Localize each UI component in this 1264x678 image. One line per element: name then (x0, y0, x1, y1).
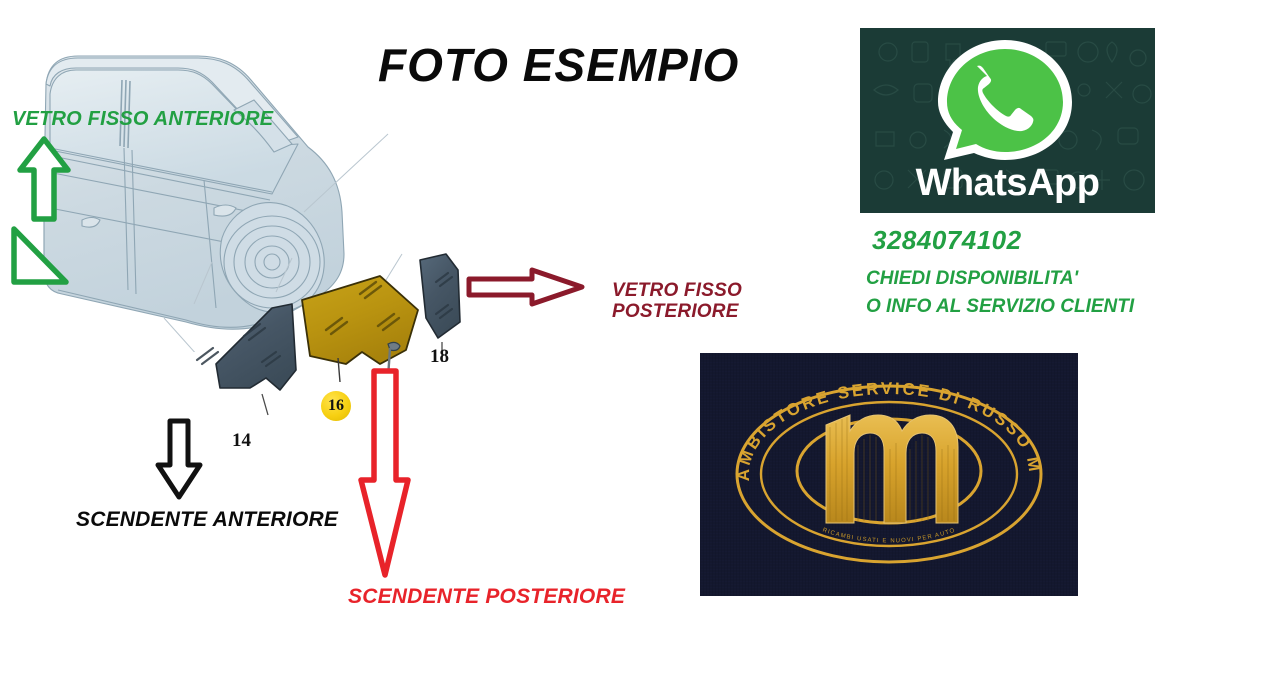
phone-number[interactable]: 3284074102 (872, 225, 1022, 256)
label-vetro-fisso-posteriore: VETRO FISSO POSTERIORE (612, 280, 742, 323)
contact-line-2: O INFO AL SERVIZIO CLIENTI (866, 296, 1134, 318)
page-title: FOTO ESEMPIO (378, 38, 798, 92)
shop-logo: MRICAMBISTORE SERVICE DI RUSSO MARCO RI (700, 353, 1078, 596)
triangle-green-icon (8, 225, 70, 292)
whatsapp-phone-icon (930, 36, 1080, 169)
shop-logo-artwork: MRICAMBISTORE SERVICE DI RUSSO MARCO RI (700, 353, 1078, 596)
contact-line-1: CHIEDI DISPONIBILITA' (866, 268, 1078, 290)
arrow-down-black-icon (155, 418, 203, 505)
label-line-1: VETRO FISSO (612, 280, 742, 301)
logo-monogram (826, 415, 958, 523)
part-number-18: 18 (430, 346, 449, 368)
label-vetro-fisso-anteriore: VETRO FISSO ANTERIORE (12, 108, 273, 130)
whatsapp-banner[interactable]: WhatsApp (860, 28, 1155, 213)
poster-canvas: 14 17 18 16 FOTO ESEMPIO VETRO FISSO ANT… (0, 0, 1264, 678)
whatsapp-wordmark: WhatsApp (860, 162, 1155, 205)
arrow-right-darkred-icon (466, 266, 586, 313)
part-number-badge-16: 16 (321, 391, 351, 421)
arrow-down-red-icon (356, 368, 412, 585)
part-number-14: 14 (232, 430, 251, 452)
label-scendente-anteriore: SCENDENTE ANTERIORE (76, 508, 338, 532)
arrow-up-green-icon (16, 136, 72, 227)
label-scendente-posteriore: SCENDENTE POSTERIORE (348, 585, 625, 609)
label-line-2: POSTERIORE (612, 301, 742, 322)
